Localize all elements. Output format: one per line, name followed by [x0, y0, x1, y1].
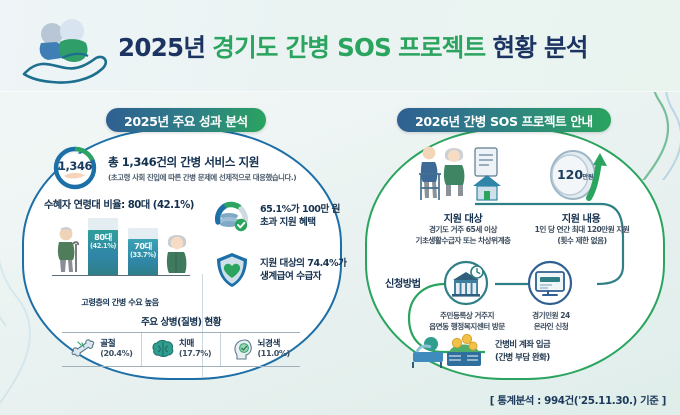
fact-text-livelihood-benefit: 지원 대상의 74.4%가 생계급여 수급자: [260, 257, 346, 283]
disease-pct-stroke: (11.0%): [258, 349, 290, 359]
disease-pct-fracture: (20.4%): [100, 349, 132, 359]
disease-heading: 주요 상병(질병) 현황: [62, 314, 300, 328]
node-label-apply-method: 신청방법: [385, 275, 421, 290]
footer-note: [ 통계분석 : 994건('25.11.30.) 기준 ]: [490, 392, 666, 407]
node-desc-apply-online-line1: 경기민원 24: [503, 310, 599, 321]
flow-diagram: 지원 대상 경기도 거주 65세 이상 기초생활수급자 또는 차상위계층 120…: [365, 118, 665, 380]
node-desc-benefit: 1인 당 연간 최대 120만원 지원 (횟수 제한 없음): [511, 224, 653, 246]
node-desc-benefit-line2: (횟수 제한 없음): [511, 235, 653, 246]
elderly-couple-house-document-icon: [413, 144, 513, 206]
fact-text-over-1million: 65.1%가 100만 원 초과 지원 혜택: [260, 203, 340, 229]
head-stroke-icon: [232, 338, 254, 360]
infographic-canvas: 2025년 경기도 간병 SOS 프로젝트 현황 분석 2025년 주요 성과 …: [0, 0, 680, 415]
fact-line-1: 지원 대상의 74.4%가: [260, 257, 346, 270]
disease-pct-dementia: (17.7%): [179, 349, 211, 359]
bar-value-80s: (42.1%): [90, 242, 116, 250]
elderly-woman-icon: [160, 232, 194, 274]
chart-heading: 수혜자 연령대 비율: 80대 (42.1%): [44, 196, 196, 211]
disease-cell-dementia: 치매 (17.7%): [142, 333, 222, 366]
hospital-bed-money-box-icon: [409, 332, 489, 370]
bar-track-70s: 70대 (33.7%): [128, 228, 158, 276]
coin-value-text: 120: [557, 167, 583, 182]
panel-2025-performance: 2025년 주요 성과 분석 1,346 총 1,346건의 간병 서비스 지원…: [22, 118, 342, 380]
bar-fill-70s: 70대 (33.7%): [128, 239, 158, 276]
disease-cell-fracture: 골절 (20.4%): [62, 333, 142, 366]
node-text-payout-line2: (간병 부담 완화): [495, 351, 550, 364]
kpi-title: 총 1,346건의 간병 서비스 지원: [108, 154, 296, 170]
chart-baseline: [52, 275, 190, 276]
fact-line-2: 초과 지원 혜택: [260, 216, 340, 229]
coins-gauge-icon: [212, 196, 252, 236]
right-panel-pill-label: 2026년 간병 SOS 프로젝트 안내: [397, 108, 611, 132]
elderly-man-with-cane-icon: [50, 226, 84, 274]
node-label-benefit: 지원 내용: [541, 210, 621, 225]
disease-section: 주요 상병(질병) 현황 골절 (20.4%): [62, 314, 300, 367]
disease-name-dementia: 치매: [179, 339, 211, 349]
bar-80s: 80대 (42.1%): [88, 218, 118, 276]
node-desc-benefit-line1: 1인 당 연간 최대 120만원 지원: [511, 224, 653, 235]
node-desc-apply-online: 경기민원 24 온라인 신청: [503, 310, 599, 332]
node-label-target: 지원 대상: [413, 210, 513, 225]
fact-over-1million: 65.1%가 100만 원 초과 지원 혜택: [212, 196, 354, 236]
left-panel-pill-label: 2025년 주요 성과 분석: [106, 108, 266, 132]
bar-70s: 70대 (33.7%): [128, 228, 158, 276]
brain-icon: [151, 338, 175, 360]
facts-column: 65.1%가 100만 원 초과 지원 혜택 지원 대상의 74.4%가 생: [212, 196, 354, 290]
kpi-ring-value: 1,346: [52, 145, 98, 191]
fact-line-1: 65.1%가 100만 원: [260, 203, 340, 216]
panel-2026-guide: 2026년 간병 SOS 프로젝트 안내: [365, 118, 665, 380]
title-part-1: 2025년: [118, 29, 205, 64]
desktop-monitor-icon: [527, 260, 573, 306]
node-text-payout-line1: 간병비 계좌 입금: [495, 338, 550, 351]
title-part-4: 현황 분석: [493, 29, 588, 64]
fact-livelihood-benefit: 지원 대상의 74.4%가 생계급여 수급자: [212, 250, 354, 290]
government-building-clock-icon: [443, 260, 489, 306]
disease-cell-stroke: 뇌경색 (11.0%): [221, 333, 300, 366]
bar-label-70s: 70대: [134, 242, 152, 251]
bar-fill-80s: 80대 (42.1%): [88, 230, 118, 276]
title-part-2: 경기도 간병 SOS: [212, 29, 391, 64]
chart-caption: 고령층의 간병 수요 높음: [44, 296, 196, 308]
node-text-payout: 간병비 계좌 입금 (간병 부담 완화): [495, 338, 550, 363]
caregiver-on-palm-icon: [22, 14, 114, 84]
disease-name-fracture: 골절: [100, 339, 132, 349]
bone-fracture-icon: [70, 338, 96, 360]
coin-arrow-up-icon: 120 만원: [543, 148, 617, 206]
kpi-ring: 1,346: [52, 145, 98, 191]
age-bar-chart: 수혜자 연령대 비율: 80대 (42.1%): [44, 196, 196, 304]
bar-track-80s: 80대 (42.1%): [88, 218, 118, 276]
chart-plot-area: 80대 (42.1%) 70대 (33.7%): [44, 214, 196, 286]
coin-unit-text: 만원: [582, 173, 593, 181]
page-header: 2025년 경기도 간병 SOS 프로젝트 현황 분석: [0, 0, 680, 92]
fact-line-2: 생계급여 수급자: [260, 270, 346, 283]
title-part-3: 프로젝트: [398, 29, 485, 64]
disease-table: 골절 (20.4%) 치매 (17.7%): [62, 332, 300, 367]
kpi-subtitle: (초고령 사회 진입에 따른 간병 문제에 선제적으로 대응했습니다.): [108, 172, 296, 183]
disease-name-stroke: 뇌경색: [258, 339, 290, 349]
node-desc-apply-online-line2: 온라인 신청: [503, 321, 599, 332]
page-title: 2025년 경기도 간병 SOS 프로젝트 현황 분석: [118, 23, 618, 69]
bar-value-70s: (33.7%): [130, 251, 156, 259]
shield-heart-icon: [212, 250, 252, 290]
middle-row: 수혜자 연령대 비율: 80대 (42.1%): [44, 196, 326, 304]
kpi-block: 1,346 총 1,346건의 간병 서비스 지원 (초고령 사회 진입에 따른…: [52, 144, 320, 192]
bar-label-80s: 80대: [94, 233, 112, 242]
